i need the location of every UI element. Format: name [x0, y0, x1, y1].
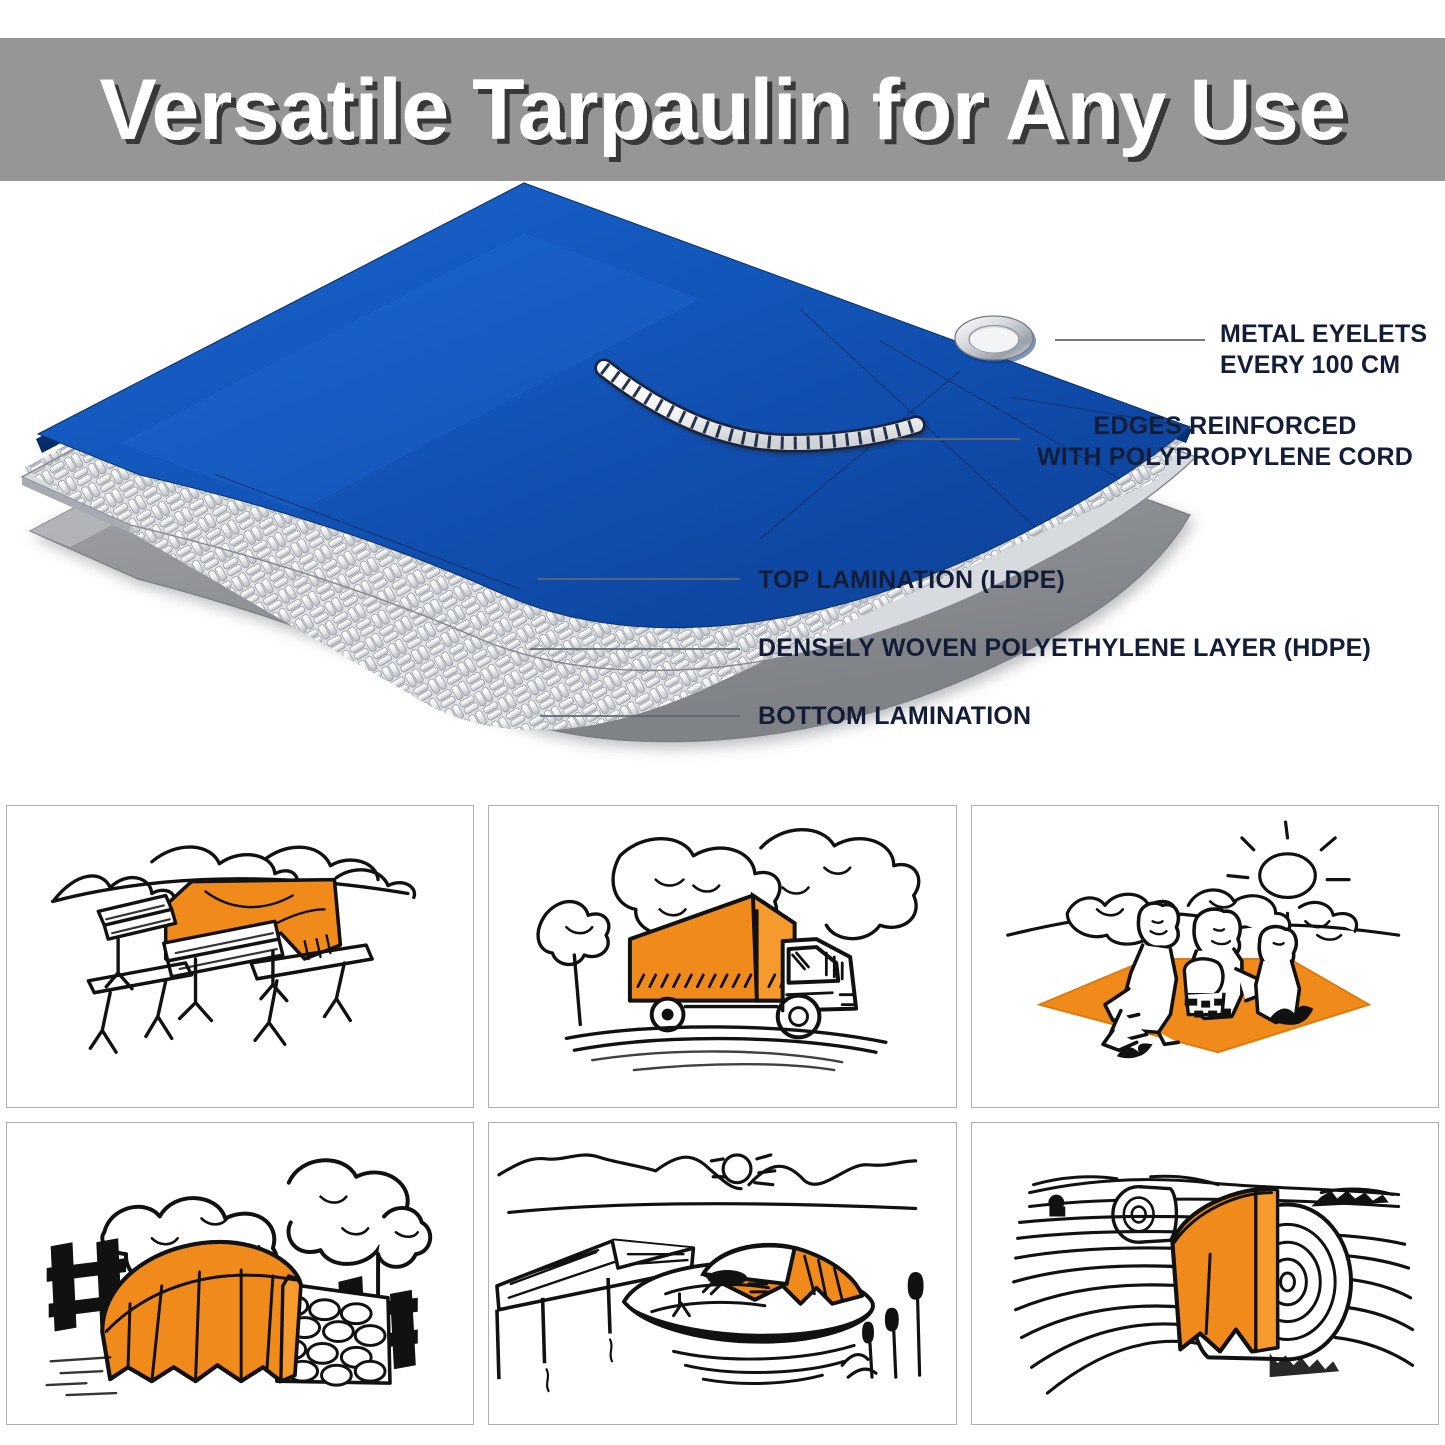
firewood-pile-with-tarp-illustration [7, 1123, 473, 1424]
header-banner: Versatile Tarpaulin for Any Use [0, 38, 1445, 181]
metal-eyelet [955, 316, 1036, 364]
panel-truck-cargo-cover [488, 805, 956, 1108]
panel-firewood-cover [6, 1122, 474, 1425]
use-case-panel-grid [6, 805, 1439, 1425]
tarp-cutaway-svg [0, 181, 1445, 791]
callout-edges-reinforced: EDGES REINFORCED WITH POLYPROPYLENE CORD [1030, 411, 1420, 472]
truck-with-tarp-cover-illustration [489, 806, 955, 1107]
boat-at-dock-with-tarp-illustration [489, 1123, 955, 1424]
panel-boat-cover [488, 1122, 956, 1425]
family-picnic-on-tarp-illustration [972, 806, 1438, 1107]
panel-picnic-table-cover [6, 805, 474, 1108]
tarpaulin-construction-diagram: METAL EYELETS EVERY 100 CM EDGES REINFOR… [0, 181, 1445, 791]
picnic-table-with-tarp-illustration [7, 806, 473, 1107]
hay-bale-with-tarp-illustration [972, 1123, 1438, 1424]
callout-bottom-lamination: BOTTOM LAMINATION [758, 701, 1031, 732]
panel-picnic-blanket [971, 805, 1439, 1108]
page-title: Versatile Tarpaulin for Any Use [99, 67, 1345, 153]
panel-hay-bale-cover [971, 1122, 1439, 1425]
callout-top-lamination: TOP LAMINATION (LDPE) [758, 565, 1065, 596]
callout-woven-layer: DENSELY WOVEN POLYETHYLENE LAYER (HDPE) [758, 633, 1371, 664]
callout-metal-eyelets: METAL EYELETS EVERY 100 CM [1220, 319, 1427, 380]
